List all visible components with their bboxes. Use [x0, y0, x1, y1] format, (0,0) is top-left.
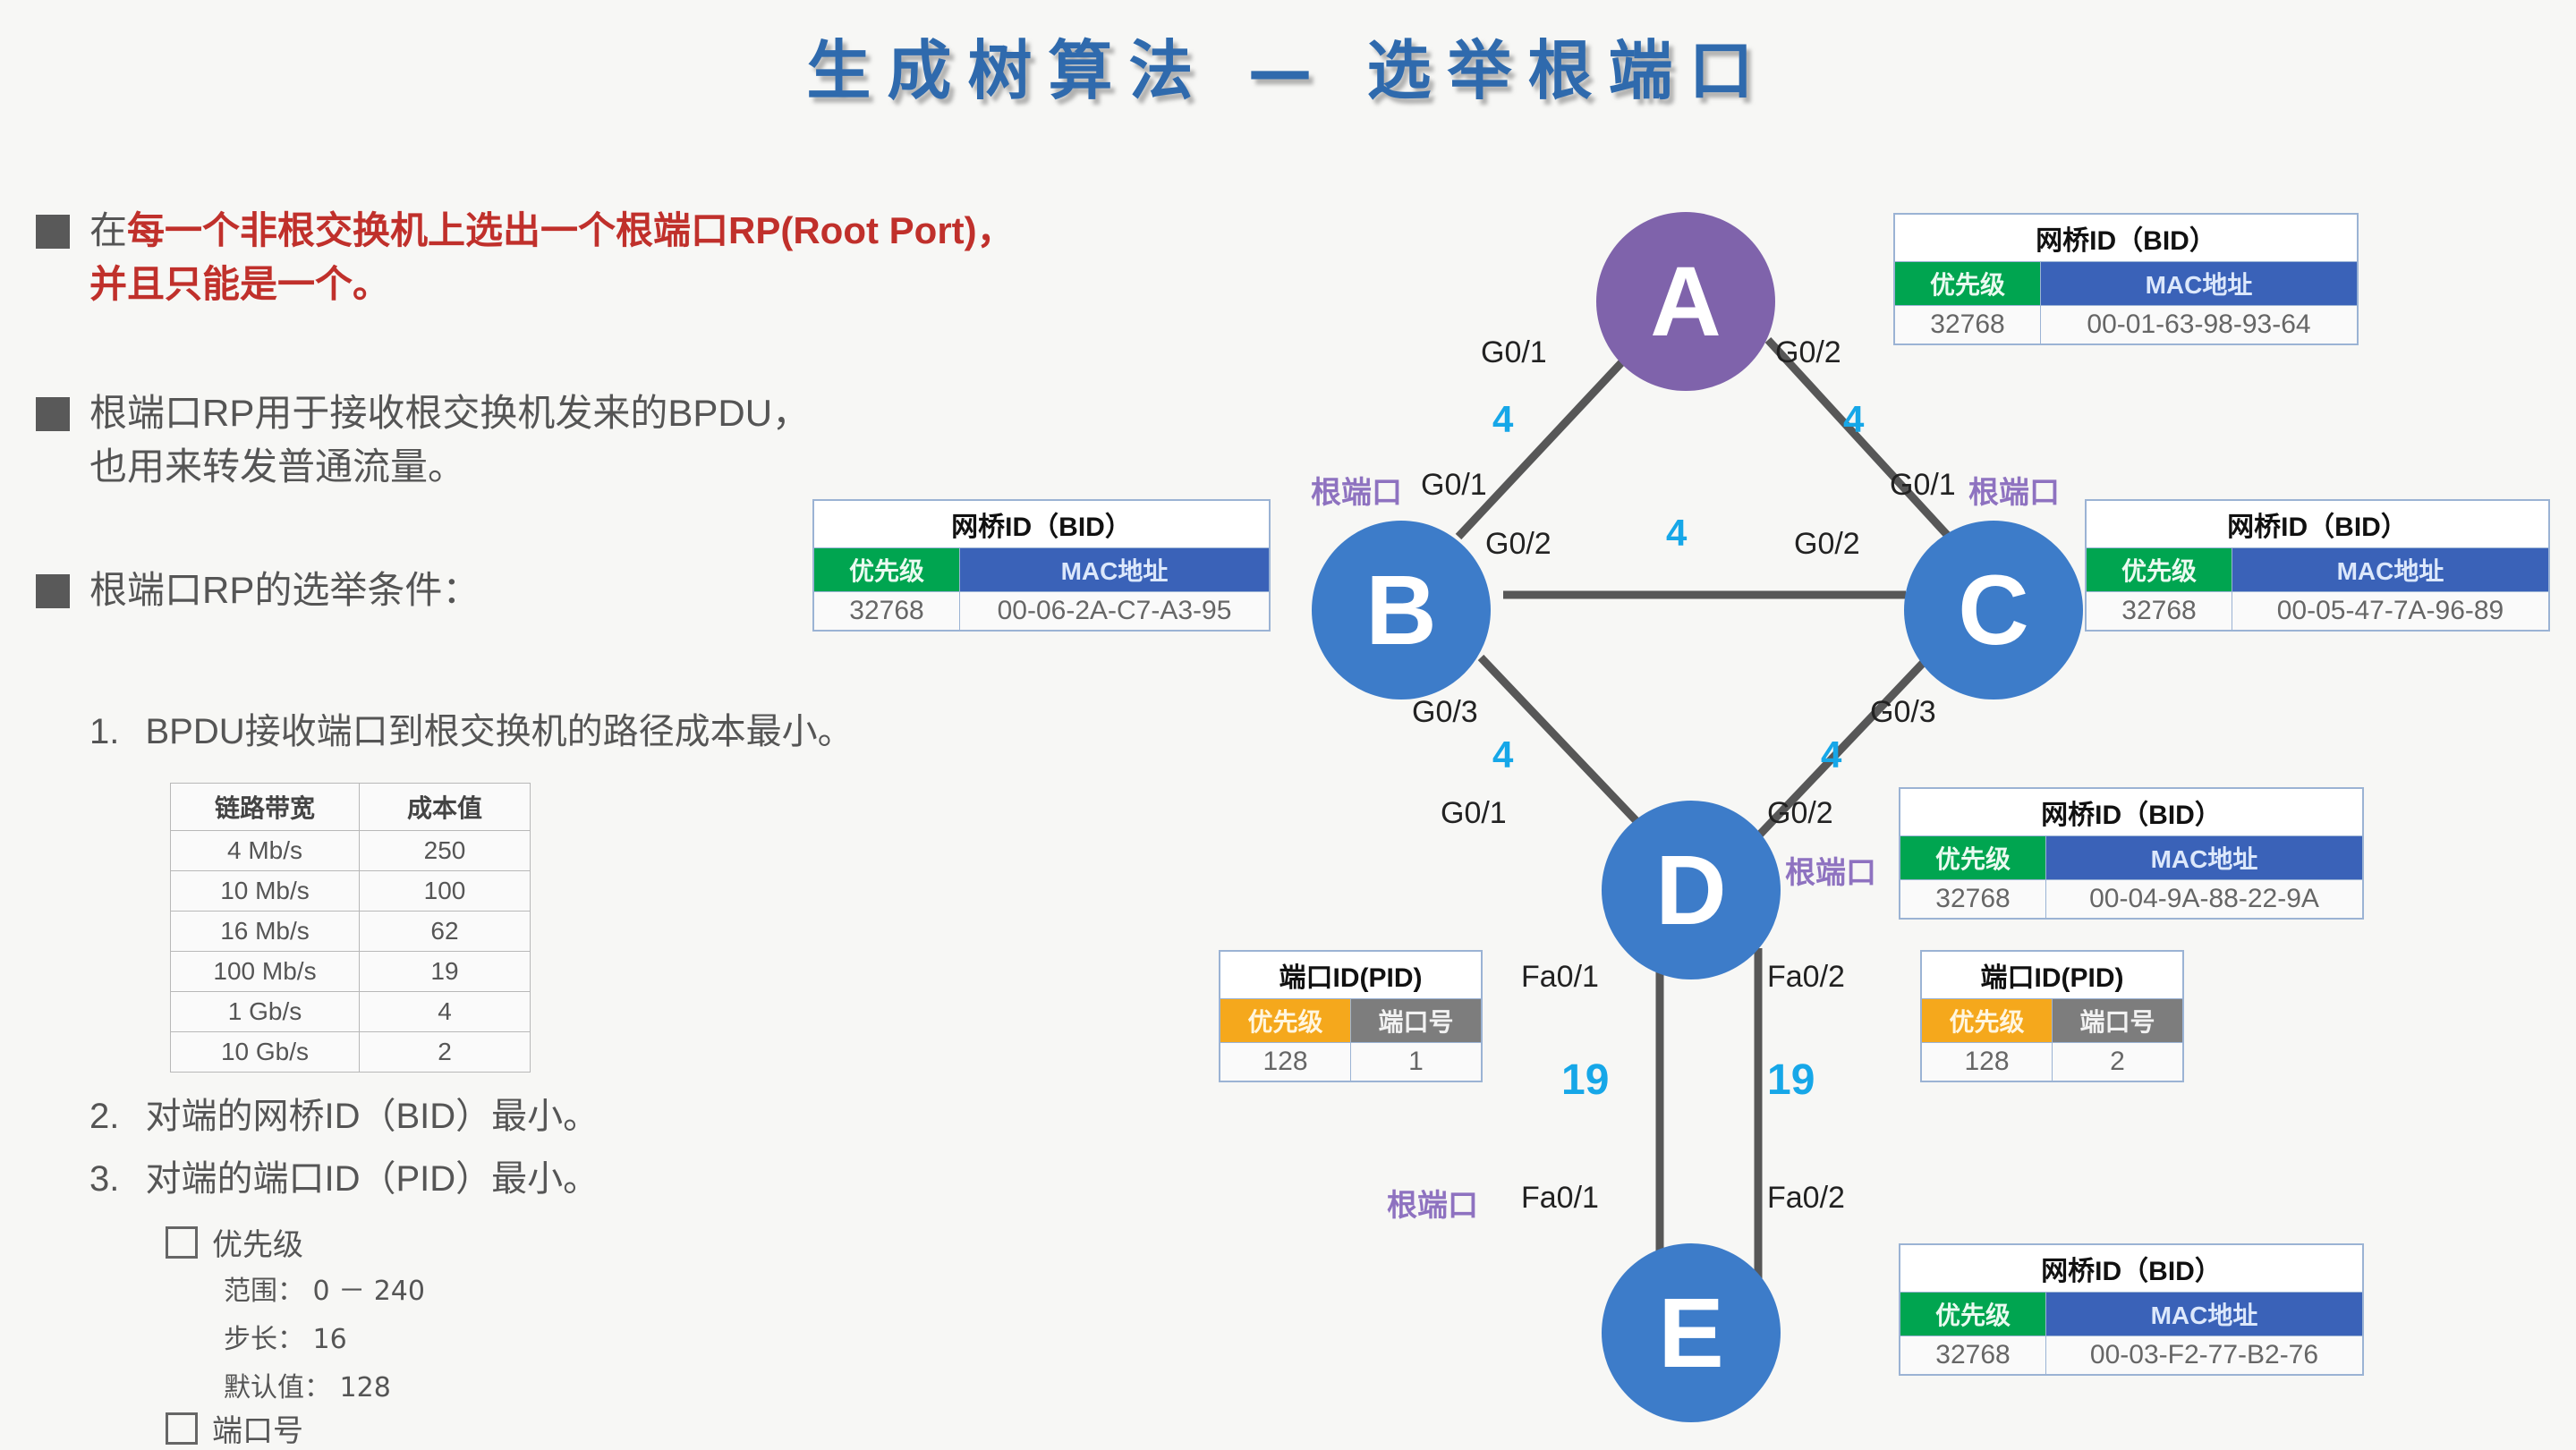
root-port-label-e: 根端口	[1387, 1181, 1478, 1225]
checkbox-icon[interactable]	[166, 1226, 198, 1259]
cost-label-cd: 4	[1821, 733, 1841, 776]
bid-table-a: 网桥ID（BID） 优先级 MAC地址 32768 00-01-63-98-93…	[1893, 213, 2359, 345]
pid-1-port: 1	[1351, 1043, 1483, 1082]
bullet-square-icon	[36, 397, 70, 431]
port-label-d-right: G0/2	[1767, 796, 1833, 831]
cost-label-de-left: 19	[1561, 1056, 1609, 1105]
bullet-square-icon	[36, 215, 70, 249]
table-row: 32768 00-06-2A-C7-A3-95	[813, 592, 1270, 632]
table-subheader-row: 优先级 MAC地址	[1900, 836, 2363, 880]
network-node-d[interactable]: D	[1602, 801, 1781, 979]
pid-1-col1: 优先级	[1220, 999, 1351, 1043]
bid-c-header: 网桥ID（BID）	[2086, 500, 2549, 548]
table-row: 4 Mb/s 250	[171, 831, 531, 871]
port-label-e-fa1: Fa0/1	[1521, 1181, 1599, 1216]
table-row: 16 Mb/s 62	[171, 912, 531, 952]
port-label-d-fa1: Fa0/1	[1521, 960, 1599, 995]
table-header-row: 网桥ID（BID）	[1900, 1244, 2363, 1293]
cost-row-2-bandwidth: 16 Mb/s	[171, 912, 360, 952]
port-label-b-right: G0/2	[1485, 527, 1552, 562]
cost-row-5-bandwidth: 10 Gb/s	[171, 1032, 360, 1073]
numbered-item-2-text: 对端的网桥ID（BID）最小。	[145, 1097, 599, 1136]
table-subheader-row: 优先级 MAC地址	[1894, 262, 2358, 306]
network-node-b[interactable]: B	[1312, 521, 1491, 700]
bid-d-header: 网桥ID（BID）	[1900, 788, 2363, 836]
cost-row-4-bandwidth: 1 Gb/s	[171, 992, 360, 1032]
numbered-item-1-num: 1.	[89, 712, 119, 751]
bid-b-priority: 32768	[813, 592, 960, 632]
network-node-c[interactable]: C	[1904, 521, 2083, 700]
bid-c-priority: 32768	[2086, 592, 2232, 632]
bid-a-header: 网桥ID（BID）	[1894, 214, 2358, 262]
bid-d-col1: 优先级	[1900, 836, 2046, 880]
table-row: 32768 00-03-F2-77-B2-76	[1900, 1336, 2363, 1376]
bid-a-col1: 优先级	[1894, 262, 2041, 306]
table-subheader-row: 优先级 端口号	[1220, 999, 1482, 1043]
table-header-row: 端口ID(PID)	[1921, 951, 2183, 999]
table-row: 32768 00-01-63-98-93-64	[1894, 306, 2358, 345]
node-b-label: B	[1365, 554, 1436, 667]
cost-table-header-cost: 成本值	[360, 784, 531, 831]
numbered-item-1-text: BPDU接收端口到根交换机的路径成本最小。	[145, 712, 853, 751]
pid-2-col1: 优先级	[1921, 999, 2053, 1043]
priority-default-text: 默认值： 128	[224, 1365, 391, 1404]
node-a-label: A	[1650, 245, 1721, 359]
bid-a-priority: 32768	[1894, 306, 2041, 345]
bullet-2-line2: 也用来转发普通流量。	[89, 445, 465, 488]
port-label-c-left: G0/2	[1794, 527, 1860, 562]
table-header-row: 网桥ID（BID）	[1894, 214, 2358, 262]
bullet-1-lead: 在	[89, 209, 127, 251]
port-label-b-bottom: G0/3	[1412, 695, 1478, 730]
cost-label-bc: 4	[1666, 512, 1687, 555]
node-d-label: D	[1655, 834, 1726, 947]
table-header-row: 端口ID(PID)	[1220, 951, 1482, 999]
port-label-d-left: G0/1	[1441, 796, 1507, 831]
table-subheader-row: 优先级 MAC地址	[2086, 548, 2549, 592]
bid-e-col1: 优先级	[1900, 1293, 2046, 1336]
pid-table-2: 端口ID(PID) 优先级 端口号 128 2	[1920, 950, 2184, 1082]
numbered-item-2: 2. 对端的网桥ID（BID）最小。	[89, 1091, 599, 1141]
bid-b-mac: 00-06-2A-C7-A3-95	[960, 592, 1271, 632]
table-header-row: 网桥ID（BID）	[813, 500, 1270, 548]
bid-c-mac: 00-05-47-7A-96-89	[2232, 592, 2550, 632]
port-label-b-top: G0/1	[1421, 468, 1487, 503]
cost-table-header-bandwidth: 链路带宽	[171, 784, 360, 831]
bullet-2-line1: 根端口RP用于接收根交换机发来的BPDU，	[89, 392, 810, 434]
cost-label-ab: 4	[1492, 398, 1513, 441]
bullet-square-icon	[36, 574, 70, 608]
bullet-1-emphasis-line2: 并且只能是一个。	[89, 263, 390, 305]
network-node-a[interactable]: A	[1596, 212, 1775, 391]
node-c-label: C	[1958, 554, 2028, 667]
port-label-c-top: G0/1	[1890, 468, 1956, 503]
pid-1-header: 端口ID(PID)	[1220, 951, 1482, 999]
priority-step-text: 步长： 16	[224, 1317, 347, 1356]
numbered-item-3-text: 对端的端口ID（PID）最小。	[145, 1159, 599, 1199]
cost-row-2-cost: 62	[360, 912, 531, 952]
bullet-item-1: 在每一个非根交换机上选出一个根端口RP(Root Port)， 并且只能是一个。	[36, 204, 1306, 310]
bid-table-d: 网桥ID（BID） 优先级 MAC地址 32768 00-04-9A-88-22…	[1899, 787, 2364, 920]
table-subheader-row: 优先级 端口号	[1921, 999, 2183, 1043]
network-node-e[interactable]: E	[1602, 1243, 1781, 1422]
bullet-1-emphasis-line1: 每一个非根交换机上选出一个根端口RP(Root Port)，	[127, 209, 1015, 251]
numbered-item-2-num: 2.	[89, 1097, 119, 1136]
pid-1-priority: 128	[1220, 1043, 1351, 1082]
table-subheader-row: 优先级 MAC地址	[813, 548, 1270, 592]
table-row: 32768 00-04-9A-88-22-9A	[1900, 880, 2363, 920]
checkbox-icon[interactable]	[166, 1412, 198, 1445]
port-label-c-bottom: G0/3	[1870, 695, 1936, 730]
checkbox-item-priority[interactable]: 优先级	[166, 1220, 303, 1264]
table-header-row: 链路带宽 成本值	[171, 784, 531, 831]
bid-table-e: 网桥ID（BID） 优先级 MAC地址 32768 00-03-F2-77-B2…	[1899, 1243, 2364, 1376]
slide-canvas: 生成树算法 — 选举根端口 在每一个非根交换机上选出一个根端口RP(Root P…	[0, 0, 2576, 1446]
bullet-3-line1: 根端口RP的选举条件：	[89, 569, 480, 611]
cost-row-4-cost: 4	[360, 992, 531, 1032]
numbered-item-3-num: 3.	[89, 1159, 119, 1199]
bid-table-b: 网桥ID（BID） 优先级 MAC地址 32768 00-06-2A-C7-A3…	[812, 499, 1271, 632]
table-row: 10 Mb/s 100	[171, 871, 531, 912]
bullet-3-text: 根端口RP的选举条件：	[89, 564, 480, 617]
page-title: 生成树算法 — 选举根端口	[0, 18, 2576, 112]
cost-label-bd: 4	[1492, 733, 1513, 776]
bid-e-mac: 00-03-F2-77-B2-76	[2046, 1336, 2364, 1376]
bid-b-col1: 优先级	[813, 548, 960, 592]
table-header-row: 网桥ID（BID）	[1900, 788, 2363, 836]
port-label-e-fa2: Fa0/2	[1767, 1181, 1845, 1216]
pid-2-port: 2	[2053, 1043, 2184, 1082]
pid-1-col2: 端口号	[1351, 999, 1483, 1043]
node-e-label: E	[1658, 1276, 1723, 1390]
checkbox-item-port-number[interactable]: 端口号	[166, 1406, 303, 1450]
bid-d-priority: 32768	[1900, 880, 2046, 920]
root-port-label-c: 根端口	[1968, 468, 2060, 512]
bid-d-col2: MAC地址	[2046, 836, 2364, 880]
link-cost-table: 链路带宽 成本值 4 Mb/s 250 10 Mb/s 100 16 Mb/s …	[170, 783, 531, 1073]
pid-table-1: 端口ID(PID) 优先级 端口号 128 1	[1219, 950, 1483, 1082]
priority-range-text: 范围： 0 － 240	[224, 1268, 425, 1308]
root-port-label-b: 根端口	[1311, 468, 1402, 512]
checkbox-priority-label: 优先级	[212, 1220, 303, 1264]
table-header-row: 网桥ID（BID）	[2086, 500, 2549, 548]
bid-b-header: 网桥ID（BID）	[813, 500, 1270, 548]
numbered-item-3: 3. 对端的端口ID（PID）最小。	[89, 1154, 599, 1204]
port-label-a-right: G0/2	[1775, 335, 1841, 370]
cost-row-0-bandwidth: 4 Mb/s	[171, 831, 360, 871]
bid-b-col2: MAC地址	[960, 548, 1271, 592]
bid-d-mac: 00-04-9A-88-22-9A	[2046, 880, 2364, 920]
port-label-d-fa2: Fa0/2	[1767, 960, 1845, 995]
bid-e-header: 网桥ID（BID）	[1900, 1244, 2363, 1293]
bid-a-col2: MAC地址	[2041, 262, 2359, 306]
pid-2-header: 端口ID(PID)	[1921, 951, 2183, 999]
bullet-1-text: 在每一个非根交换机上选出一个根端口RP(Root Port)， 并且只能是一个。	[89, 204, 1015, 310]
root-port-label-d: 根端口	[1785, 848, 1876, 892]
table-row: 100 Mb/s 19	[171, 952, 531, 992]
table-row: 32768 00-05-47-7A-96-89	[2086, 592, 2549, 632]
cost-row-0-cost: 250	[360, 831, 531, 871]
bullet-item-2: 根端口RP用于接收根交换机发来的BPDU， 也用来转发普通流量。	[36, 386, 1306, 493]
table-row: 128 1	[1220, 1043, 1482, 1082]
bid-e-col2: MAC地址	[2046, 1293, 2364, 1336]
bid-a-mac: 00-01-63-98-93-64	[2041, 306, 2359, 345]
bid-c-col1: 优先级	[2086, 548, 2232, 592]
pid-2-priority: 128	[1921, 1043, 2053, 1082]
bullet-2-text: 根端口RP用于接收根交换机发来的BPDU， 也用来转发普通流量。	[89, 386, 810, 493]
bid-e-priority: 32768	[1900, 1336, 2046, 1376]
cost-row-3-bandwidth: 100 Mb/s	[171, 952, 360, 992]
cost-label-ac: 4	[1843, 398, 1864, 441]
port-label-a-left: G0/1	[1481, 335, 1547, 370]
cost-row-1-cost: 100	[360, 871, 531, 912]
numbered-item-1: 1. BPDU接收端口到根交换机的路径成本最小。	[89, 707, 854, 757]
table-row: 128 2	[1921, 1043, 2183, 1082]
bid-table-c: 网桥ID（BID） 优先级 MAC地址 32768 00-05-47-7A-96…	[2085, 499, 2550, 632]
cost-row-5-cost: 2	[360, 1032, 531, 1073]
table-row: 1 Gb/s 4	[171, 992, 531, 1032]
table-subheader-row: 优先级 MAC地址	[1900, 1293, 2363, 1336]
pid-2-col2: 端口号	[2053, 999, 2184, 1043]
checkbox-port-number-label: 端口号	[212, 1406, 303, 1450]
table-row: 10 Gb/s 2	[171, 1032, 531, 1073]
cost-row-3-cost: 19	[360, 952, 531, 992]
bid-c-col2: MAC地址	[2232, 548, 2550, 592]
cost-label-de-right: 19	[1767, 1056, 1815, 1105]
cost-row-1-bandwidth: 10 Mb/s	[171, 871, 360, 912]
